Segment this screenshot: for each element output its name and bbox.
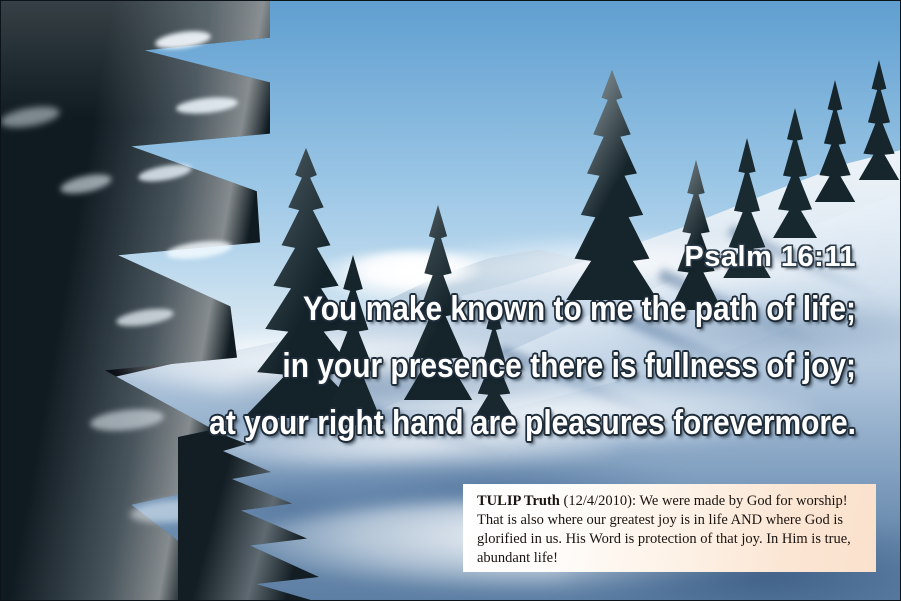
verse-line-1: You make known to me the path of life;	[103, 292, 856, 326]
scripture-reference: Psalm 16:11	[0, 243, 856, 272]
caption-date: (12/4/2010):	[564, 493, 637, 509]
inspirational-image: Psalm 16:11 You make known to me the pat…	[0, 0, 901, 601]
scripture-overlay: Psalm 16:11 You make known to me the pat…	[0, 243, 880, 440]
verse-line-3: at your right hand are pleasures forever…	[103, 406, 856, 440]
verse-line-2: in your presence there is fullness of jo…	[103, 349, 856, 383]
caption-box: TULIP Truth (12/4/2010): We were made by…	[463, 484, 876, 572]
foreground-bough	[178, 430, 328, 601]
caption-text: TULIP Truth (12/4/2010): We were made by…	[477, 492, 865, 568]
caption-label: TULIP Truth	[477, 493, 560, 509]
